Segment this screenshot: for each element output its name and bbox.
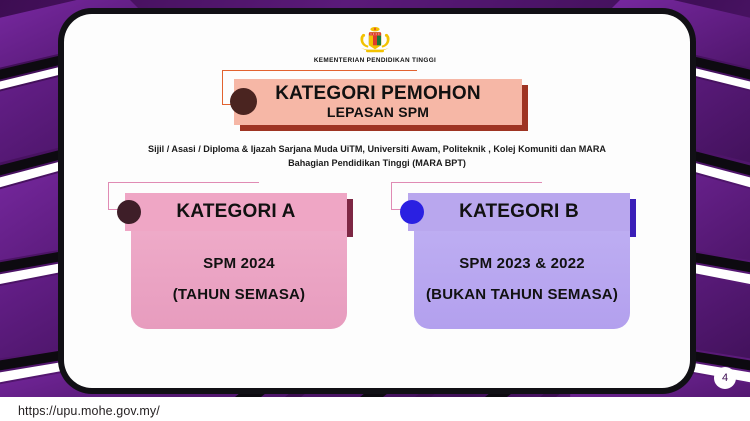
page-number-badge: 4	[714, 367, 736, 389]
category-b-line-1: SPM 2023 & 2022	[459, 255, 585, 274]
subtitle-text: Sijil / Asasi / Diploma & Ijazah Sarjana…	[100, 142, 654, 170]
category-card-a: KATEGORI A SPM 2024 (TAHUN SEMASA)	[100, 182, 360, 332]
category-b-heading: KATEGORI B	[459, 201, 579, 223]
title-banner: KATEGORI PEMOHON LEPASAN SPM	[234, 79, 522, 125]
presentation-slide: KEMENTERIAN PENDIDIKAN TINGGI KATEGORI P…	[0, 0, 750, 421]
title-line-1: KATEGORI PEMOHON	[275, 84, 481, 104]
title-bullet-circle	[230, 88, 257, 115]
ministry-header: KEMENTERIAN PENDIDIKAN TINGGI	[0, 26, 750, 64]
subtitle-line-2: Bahagian Pendidikan Tinggi (MARA BPT)	[100, 156, 654, 170]
source-url[interactable]: https://upu.mohe.gov.my/	[18, 404, 160, 418]
category-b-bullet-circle	[400, 200, 424, 224]
category-a-bullet-circle	[117, 200, 141, 224]
category-a-heading: KATEGORI A	[176, 201, 295, 223]
subtitle-line-1: Sijil / Asasi / Diploma & Ijazah Sarjana…	[100, 142, 654, 156]
category-b-header: KATEGORI B	[408, 193, 630, 231]
category-a-line-1: SPM 2024	[203, 255, 275, 274]
category-a-header: KATEGORI A	[125, 193, 347, 231]
jata-negara-crest-icon	[355, 26, 395, 54]
ministry-name: KEMENTERIAN PENDIDIKAN TINGGI	[314, 57, 436, 64]
category-b-body: SPM 2023 & 2022 (BUKAN TAHUN SEMASA)	[414, 231, 630, 329]
category-card-b: KATEGORI B SPM 2023 & 2022 (BUKAN TAHUN …	[383, 182, 643, 332]
category-a-body: SPM 2024 (TAHUN SEMASA)	[131, 231, 347, 329]
title-line-2: LEPASAN SPM	[327, 104, 429, 120]
category-a-line-2: (TAHUN SEMASA)	[173, 286, 306, 305]
category-b-line-2: (BUKAN TAHUN SEMASA)	[426, 286, 618, 305]
